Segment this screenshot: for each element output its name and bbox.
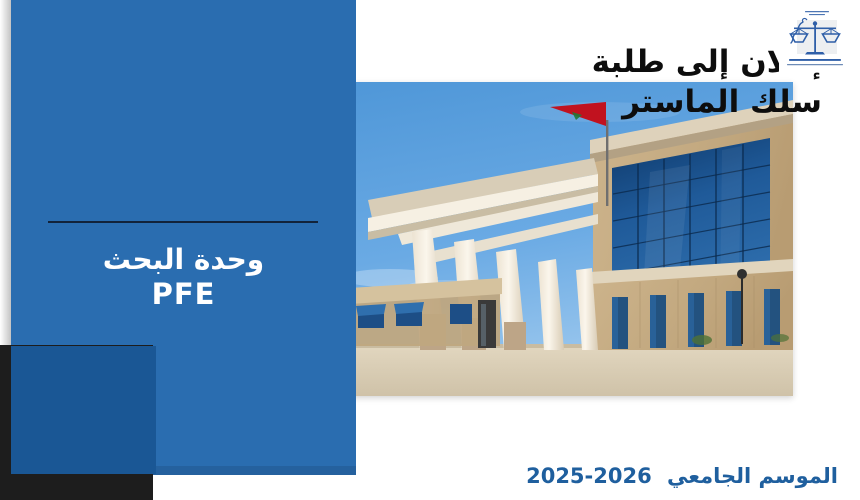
scales-of-justice-icon (779, 4, 851, 72)
page-title-line-2: سلك الماستر (537, 82, 822, 122)
academic-season-label: الموسم الجامعي (667, 464, 838, 488)
navy-square-accent (11, 346, 156, 474)
faculty-logo (779, 4, 851, 72)
academic-season-footer: الموسم الجامعي 2025-2026 (526, 464, 838, 488)
announcement-slide: إعلان إلى طلبة سلك الماستر وحدة البحث PF… (0, 0, 860, 500)
subtitle: وحدة البحث PFE (11, 243, 356, 313)
subtitle-line-1: وحدة البحث (11, 243, 356, 277)
subtitle-line-2: PFE (11, 277, 356, 312)
faculty-building-photo (350, 82, 793, 396)
building-illustration (350, 82, 793, 396)
academic-season-years: 2025-2026 (526, 464, 652, 488)
divider (48, 221, 318, 223)
